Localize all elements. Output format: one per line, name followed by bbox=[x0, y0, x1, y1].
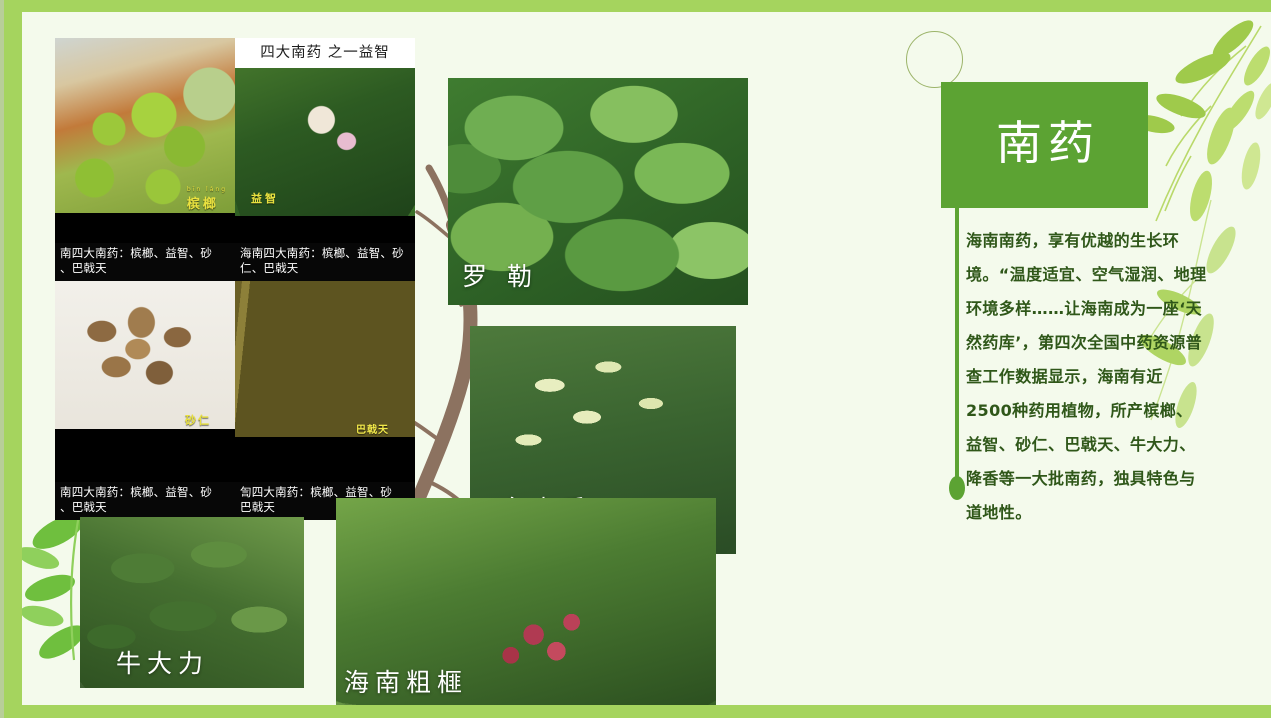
bajitian-watermark-text: 巴戟天 bbox=[356, 425, 389, 436]
yizhi-watermark: 益智 bbox=[251, 190, 279, 206]
sharen-watermark-text: 砂仁 bbox=[185, 414, 211, 427]
feature-photo-luole[interactable]: 罗 勒 bbox=[448, 78, 748, 305]
feature-label-niudali: 牛大力 bbox=[116, 644, 209, 680]
decorative-circle-outline bbox=[906, 31, 963, 88]
sharen-watermark: 砂仁 bbox=[185, 412, 211, 428]
frame-edge-shadow bbox=[0, 0, 4, 718]
betel-nut-watermark-pinyin: bīn​ láng bbox=[187, 186, 227, 193]
collage-caption-yizhi: 海南四大南药：槟榔、益智、砂 仁、巴戟天 bbox=[235, 243, 415, 281]
collage-caption-sharen: 南四大南药：槟榔、益智、砂 、巴戟天 bbox=[55, 482, 235, 520]
slide-canvas: bīn​ láng 槟榔 南四大南药：槟榔、益智、砂 、巴戟天 益智 四大南药 … bbox=[0, 0, 1271, 718]
pin-line bbox=[955, 208, 959, 488]
collage-banner-yizhi: 四大南药 之一益智 bbox=[235, 38, 415, 68]
bajitian-photo bbox=[235, 281, 415, 437]
feature-label-hainancufei: 海南粗榧 bbox=[344, 663, 468, 699]
feature-label-luole: 罗 勒 bbox=[462, 257, 538, 293]
betel-nut-watermark: bīn​ láng 槟榔 bbox=[187, 186, 227, 212]
feature-photo-hainancufei[interactable]: 海南粗榧 bbox=[336, 498, 716, 705]
pin-dot bbox=[949, 476, 965, 500]
page-title: 南药 bbox=[996, 112, 1100, 174]
collage-cell-bajitian[interactable]: 巴戟天 bbox=[235, 281, 415, 442]
sharen-photo bbox=[55, 281, 235, 429]
frame-bottom-bar bbox=[0, 705, 1271, 718]
collage-caption-betel-nut: 南四大南药：槟榔、益智、砂 、巴戟天 bbox=[55, 243, 235, 281]
photo-collage: bīn​ láng 槟榔 南四大南药：槟榔、益智、砂 、巴戟天 益智 四大南药 … bbox=[55, 38, 415, 520]
feature-photo-niudali[interactable]: 牛大力 bbox=[80, 517, 304, 688]
yizhi-watermark-text: 益智 bbox=[251, 192, 279, 205]
frame-top-bar bbox=[0, 0, 1271, 12]
title-block: 南药 bbox=[941, 82, 1148, 208]
collage-cell-yizhi[interactable]: 益智 四大南药 之一益智 海南四大南药：槟榔、益智、砂 仁、巴戟天 bbox=[235, 38, 415, 281]
collage-cell-caption-left: 南四大南药：槟榔、益智、砂 、巴戟天 bbox=[55, 442, 235, 520]
body-paragraph: 海南南药，享有优越的生长环境。“温度适宜、空气湿润、地理环境多样……让海南成为一… bbox=[966, 224, 1208, 530]
betel-nut-watermark-text: 槟榔 bbox=[187, 197, 219, 212]
bajitian-watermark: 巴戟天 bbox=[356, 421, 389, 436]
collage-cell-betel-nut[interactable]: bīn​ láng 槟榔 南四大南药：槟榔、益智、砂 、巴戟天 bbox=[55, 38, 235, 281]
collage-cell-sharen[interactable]: 砂仁 bbox=[55, 281, 235, 442]
